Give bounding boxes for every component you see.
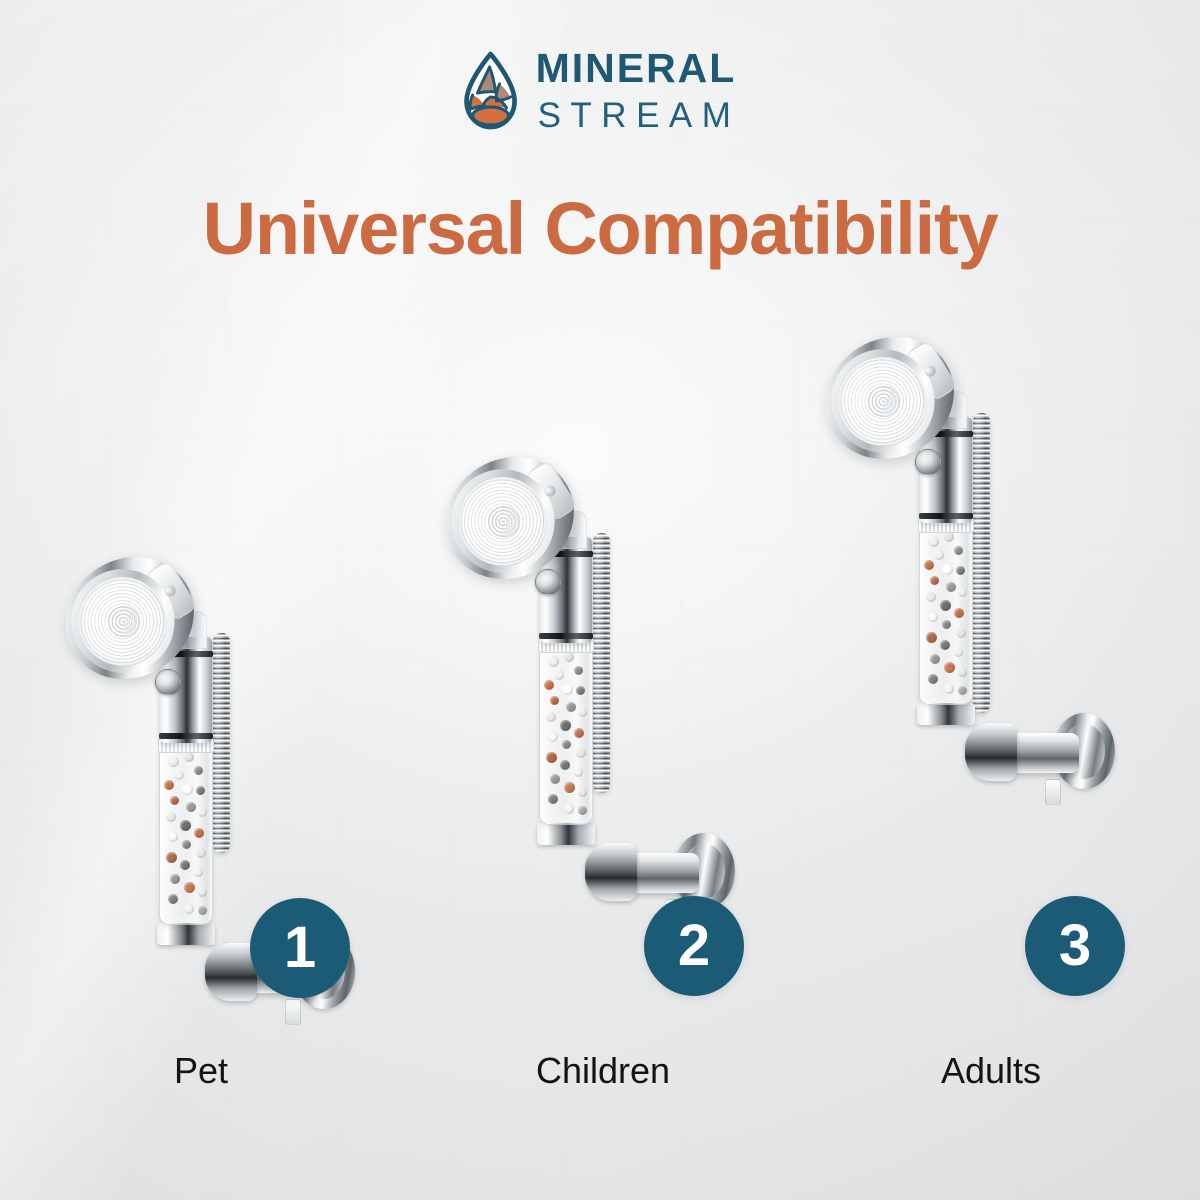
water-droplet-minerals-icon [460, 51, 522, 131]
bracket-cradle [585, 843, 637, 901]
mineral-filter-chamber [539, 645, 593, 825]
spray-mode-button [915, 449, 941, 475]
caption-children: Children [536, 1050, 670, 1092]
mineral-filter-chamber [919, 525, 973, 705]
step-badge-3: 3 [1025, 896, 1125, 996]
collar-ring-bottom [539, 633, 593, 639]
brand-name-primary: MINERAL [536, 48, 741, 89]
caption-pet: Pet [174, 1050, 228, 1092]
bracket-cradle [965, 723, 1017, 781]
spray-mode-button [535, 569, 561, 595]
handheld-shower-head-icon [845, 295, 1115, 825]
brand-wordmark: MINERAL STREAM [536, 48, 741, 133]
bracket-screw [285, 999, 301, 1025]
mineral-filter-chamber [159, 745, 213, 925]
caption-adults: Adults [941, 1050, 1041, 1092]
product-infographic: MINERAL STREAM Universal Compatibility [0, 0, 1200, 1200]
step-badge-1: 1 [250, 898, 350, 998]
brand-logo: MINERAL STREAM [460, 48, 741, 133]
collar-ring-bottom [159, 733, 213, 739]
handheld-shower-head-icon [465, 415, 735, 945]
handle-base-nut [537, 823, 595, 845]
spray-mode-button [155, 669, 181, 695]
wall-bracket [965, 695, 1115, 825]
handle-base-nut [917, 703, 975, 725]
page-title: Universal Compatibility [0, 186, 1200, 271]
bracket-screw [1045, 779, 1061, 805]
product-column-2 [465, 415, 735, 945]
collar-ring-bottom [919, 513, 973, 519]
product-column-3 [845, 295, 1115, 825]
brand-name-secondary: STREAM [538, 98, 741, 133]
step-badge-2: 2 [644, 896, 744, 996]
handle-base-nut [157, 923, 215, 945]
